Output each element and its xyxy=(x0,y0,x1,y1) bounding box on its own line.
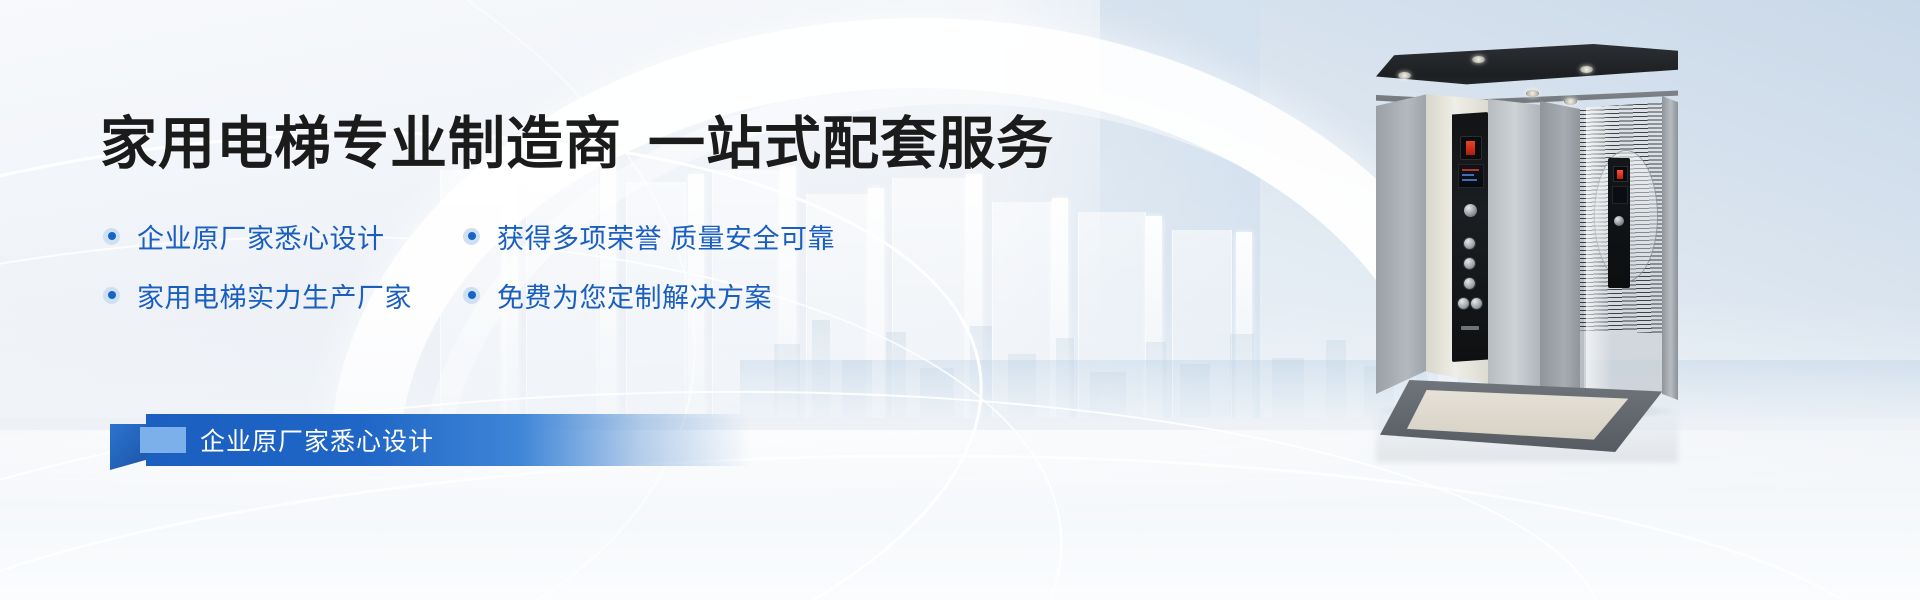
feature-label: 获得多项荣誉 质量安全可靠 xyxy=(497,217,835,256)
ceiling-light-icon xyxy=(1472,56,1485,63)
cabin-jamb-right xyxy=(1662,96,1678,400)
page-title: 家用电梯专业制造商一站式配套服务 xyxy=(100,116,1054,173)
highlight-ribbon: 企业原厂家悉心设计 xyxy=(110,414,750,470)
cabin-wall-left xyxy=(1376,94,1428,394)
floor-indicator-display xyxy=(1460,136,1482,160)
feature-item-2: 获得多项荣誉 质量安全可靠 xyxy=(463,210,835,262)
secondary-info-screen xyxy=(1612,186,1628,204)
door-close-button xyxy=(1471,298,1482,309)
feature-row: 家用电梯实力生产厂家 免费为您定制解决方案 xyxy=(103,269,963,321)
floor-indicator-digit xyxy=(1466,141,1475,155)
control-operating-panel xyxy=(1452,112,1488,362)
bullet-dot-icon xyxy=(103,287,120,304)
ribbon-body: 企业原厂家悉心设计 xyxy=(146,414,750,466)
ceiling-light-icon xyxy=(1398,72,1411,79)
headline-part-2: 一站式配套服务 xyxy=(648,112,1054,176)
feature-item-3: 家用电梯实力生产厂家 xyxy=(103,269,463,321)
hero-banner: 家用电梯专业制造商一站式配套服务 企业原厂家悉心设计 获得多项荣誉 质量安全可靠… xyxy=(0,0,1920,600)
elevator-cabin-body xyxy=(1376,94,1678,412)
ribbon-label: 企业原厂家悉心设计 xyxy=(200,422,434,458)
door-open-button xyxy=(1458,298,1469,309)
bullet-dot-icon xyxy=(463,287,480,304)
secondary-control-panel xyxy=(1608,158,1630,288)
copy-block: 家用电梯专业制造商一站式配套服务 企业原厂家悉心设计 获得多项荣誉 质量安全可靠… xyxy=(0,0,1100,600)
bullet-dot-icon xyxy=(103,228,120,245)
headline-part-1: 家用电梯专业制造商 xyxy=(100,112,622,176)
secondary-emergency-button xyxy=(1614,216,1624,226)
floor-button xyxy=(1464,238,1475,249)
feature-label: 家用电梯实力生产厂家 xyxy=(137,276,412,315)
brand-logo xyxy=(1461,326,1479,330)
elevator-cabin-image xyxy=(1376,44,1678,412)
secondary-floor-digit xyxy=(1617,170,1623,179)
emergency-button xyxy=(1464,204,1477,217)
secondary-floor-display xyxy=(1613,166,1628,182)
feature-list: 企业原厂家悉心设计 获得多项荣誉 质量安全可靠 家用电梯实力生产厂家 免费为您定… xyxy=(103,210,963,328)
ceiling-light-icon xyxy=(1580,66,1593,73)
feature-row: 企业原厂家悉心设计 获得多项荣誉 质量安全可靠 xyxy=(103,210,963,262)
info-screen xyxy=(1458,164,1484,188)
bullet-dot-icon xyxy=(463,228,480,245)
floor-button xyxy=(1464,258,1475,269)
cabin-wall-back-dark xyxy=(1540,98,1584,396)
feature-label: 免费为您定制解决方案 xyxy=(497,276,772,315)
ribbon-chip-icon xyxy=(140,427,186,453)
feature-item-4: 免费为您定制解决方案 xyxy=(463,269,772,321)
feature-item-1: 企业原厂家悉心设计 xyxy=(103,210,463,262)
floor-button xyxy=(1464,278,1475,289)
cabin-wall-back-mid xyxy=(1488,96,1542,396)
feature-label: 企业原厂家悉心设计 xyxy=(137,217,385,256)
